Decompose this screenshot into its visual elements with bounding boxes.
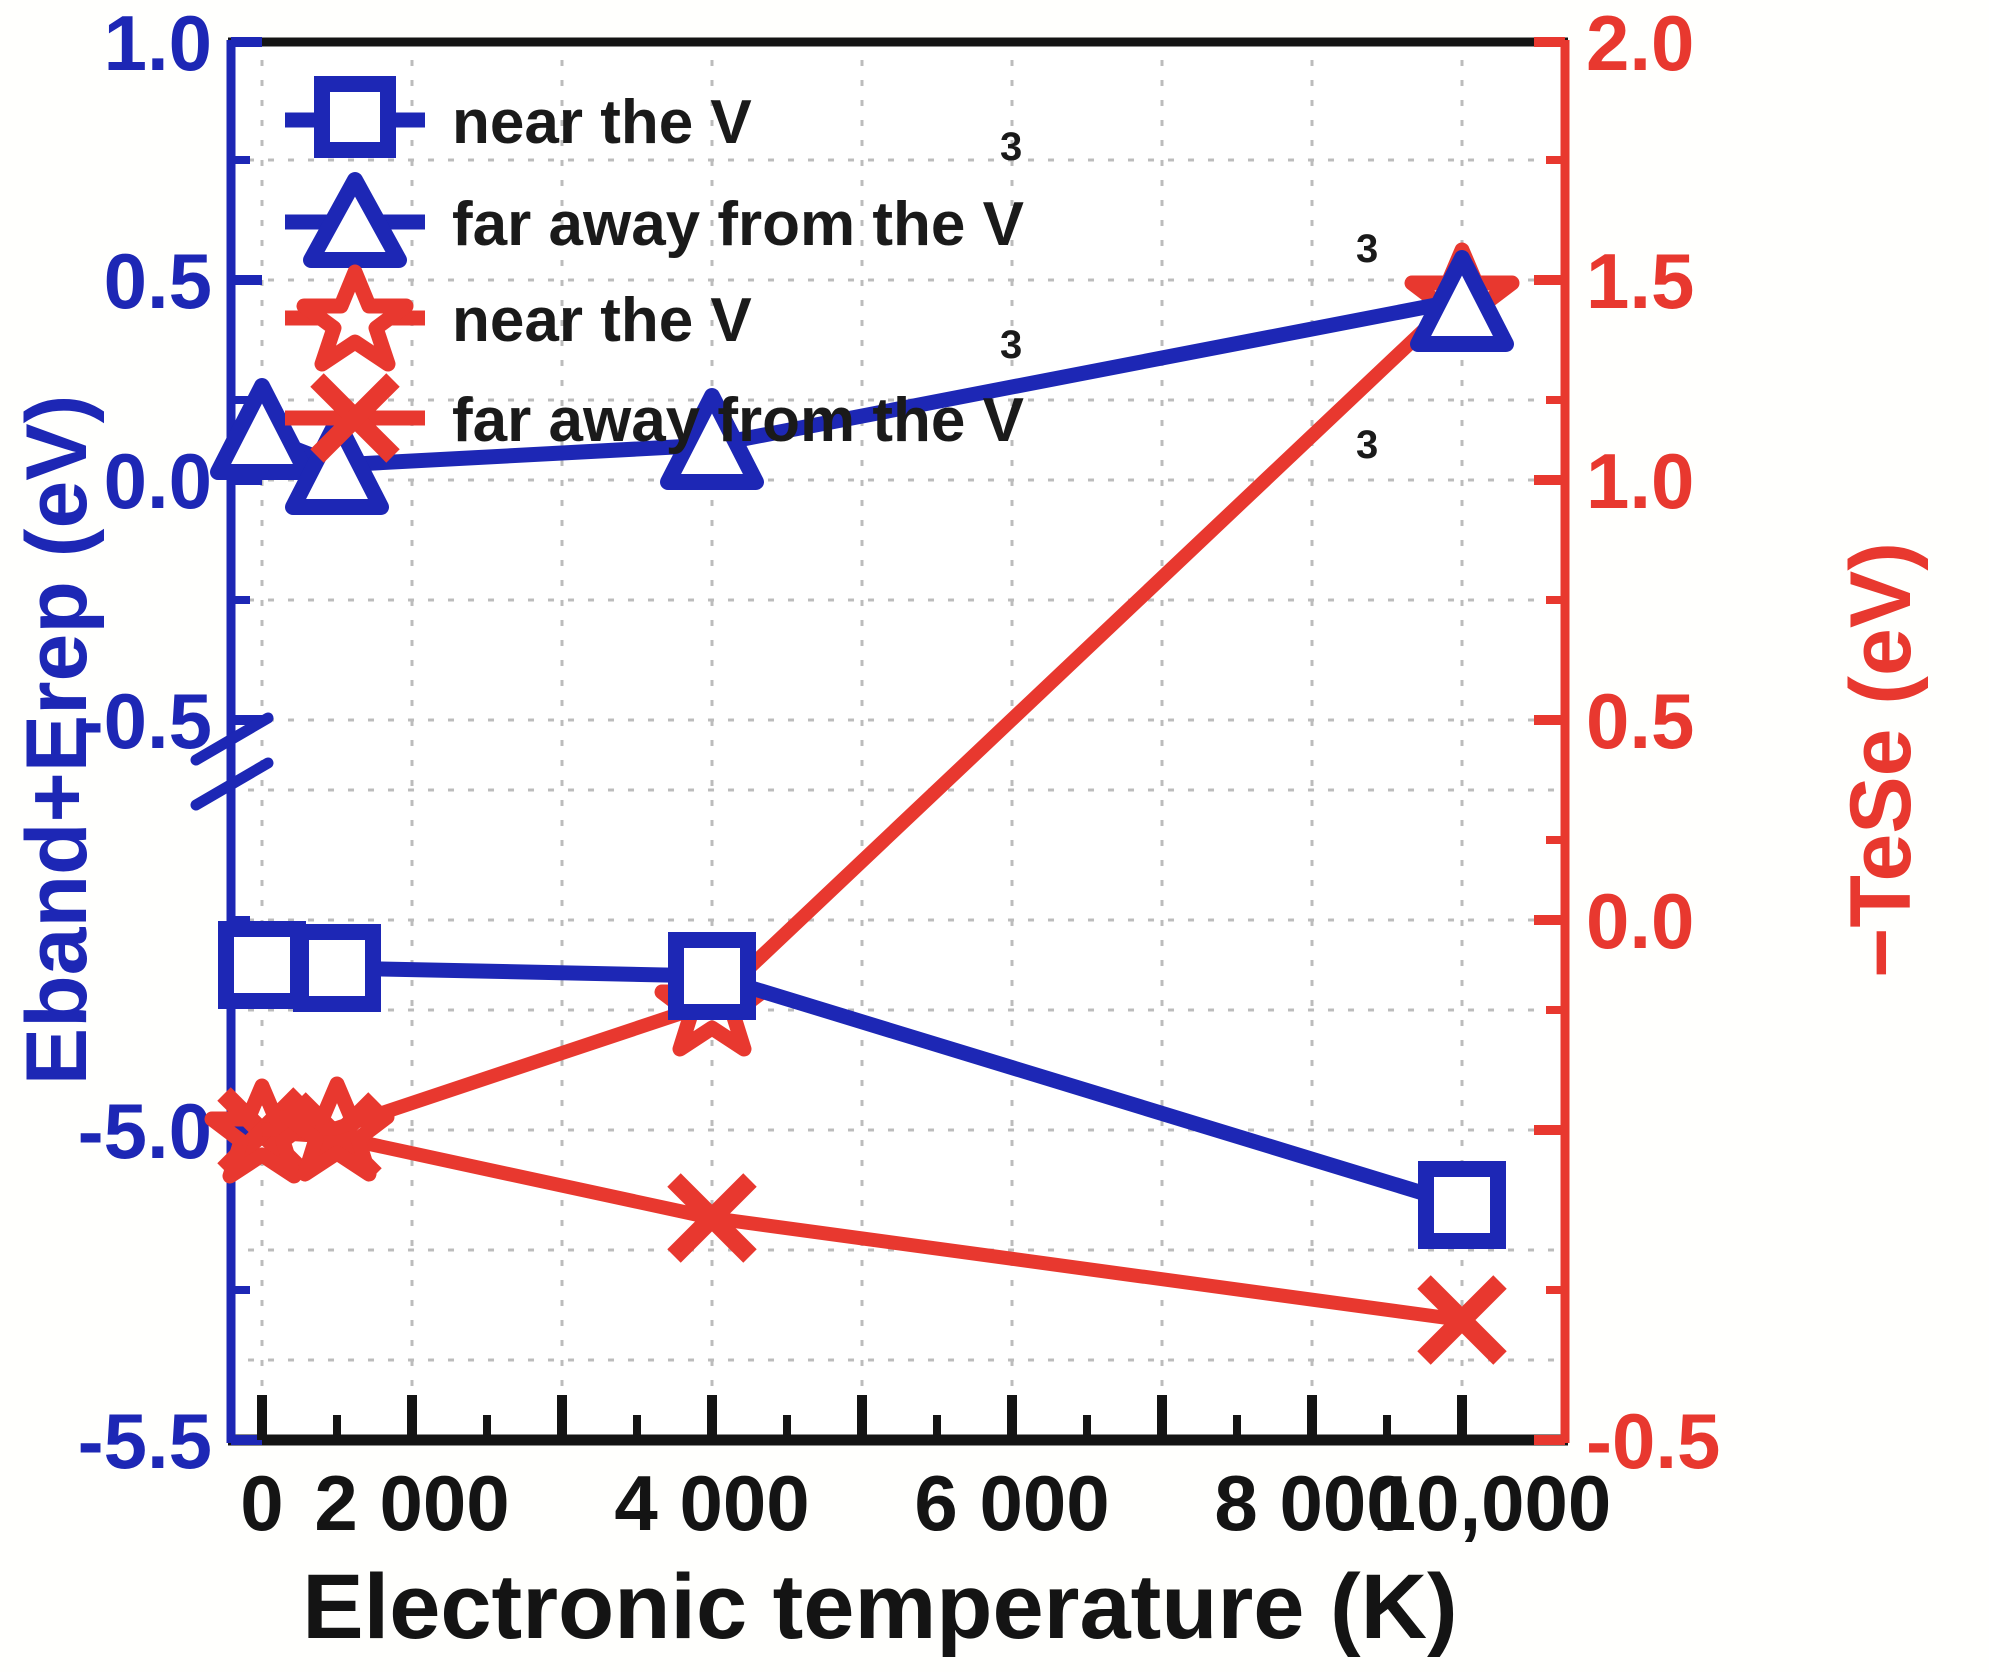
legend-marker-square-icon [322,84,388,150]
legend-label: far away from the V [452,386,1024,455]
left-tick-label: -5.0 [78,1087,212,1175]
x-tick-label: 6 000 [914,1459,1109,1547]
x-tick-label: 10,000 [1373,1459,1612,1547]
left-tick-label: 1.0 [104,0,212,87]
x-tick-label: 0 [240,1459,283,1547]
legend-label-subscript: 3 [1000,125,1022,169]
marker-square [1426,1169,1498,1241]
marker-square [676,940,748,1012]
right-tick-label: 0.0 [1586,877,1694,965]
legend-label-subscript: 3 [1356,227,1378,271]
right-tick-label: 1.0 [1586,437,1694,525]
x-tick-labels: 0 2 000 4 000 6 000 8 000 10,000 [240,1459,1611,1547]
right-tick-label: 1.5 [1586,237,1694,325]
chart-svg: 1.0 0.5 0.0 -0.5 -5.0 -5.5 2.0 1.5 1.0 0… [0,0,1989,1672]
x-axis-title: Electronic temperature (K) [302,1556,1457,1658]
left-tick-label: -5.5 [78,1397,212,1485]
legend-label: far away from the V [452,190,1024,259]
marker-square [301,932,373,1004]
right-tick-label: 0.5 [1586,677,1694,765]
chart-figure: 1.0 0.5 0.0 -0.5 -5.0 -5.5 2.0 1.5 1.0 0… [0,0,1989,1672]
right-tick-label: 2.0 [1586,0,1694,87]
legend-label: near the V [452,88,752,157]
legend-label-subscript: 3 [1000,323,1022,367]
left-tick-label: 0.5 [104,237,212,325]
y-left-axis-title: Eband+Erep (eV) [9,395,105,1086]
left-tick-label: 0.0 [104,437,212,525]
marker-square [226,929,298,1001]
x-tick-label: 4 000 [614,1459,809,1547]
legend-label-subscript: 3 [1356,423,1378,467]
y-right-axis-title: −TeSe (eV) [1833,542,1929,978]
legend-label: near the V [452,286,752,355]
x-tick-label: 2 000 [314,1459,509,1547]
